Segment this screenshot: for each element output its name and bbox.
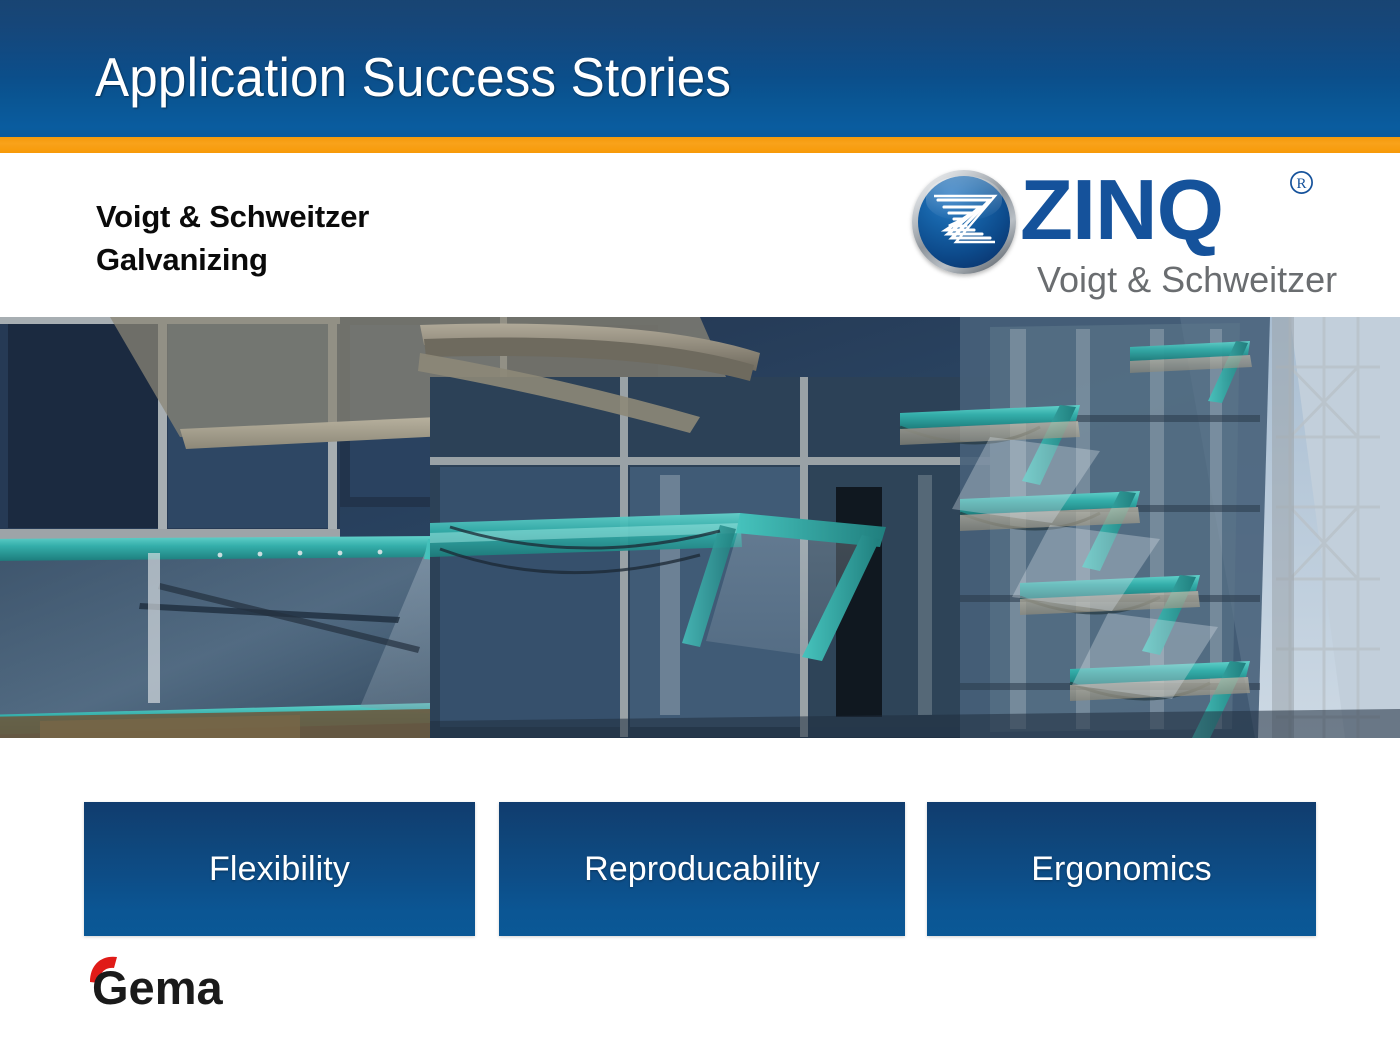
registered-trademark-icon: R [1289, 170, 1314, 195]
feature-button-label: Reproducability [584, 850, 820, 888]
zinq-tagline: Voigt & Schweitzer [1037, 260, 1337, 300]
orange-accent-divider [0, 137, 1400, 153]
zinq-brand-logo: ZINQ R Voigt & Schweitzer [912, 168, 1324, 308]
feature-button-reproducability[interactable]: Reproducability [499, 802, 905, 936]
feature-button-flexibility[interactable]: Flexibility [84, 802, 475, 936]
feature-button-ergonomics[interactable]: Ergonomics [927, 802, 1316, 936]
subtitle-line-2: Galvanizing [96, 238, 369, 281]
gema-footer-logo: Gema [84, 954, 254, 1012]
subtitle-line-1: Voigt & Schweitzer [96, 199, 369, 234]
gema-wordmark-text: Gema [92, 961, 223, 1012]
slide-header-banner: Application Success Stories [0, 0, 1400, 137]
presentation-slide: Application Success Stories Voigt & Schw… [0, 0, 1400, 1050]
feature-button-label: Flexibility [209, 850, 350, 888]
zinq-wordmark: ZINQ [1020, 168, 1223, 253]
feature-buttons-row: Flexibility Reproducability Ergonomics [0, 802, 1400, 936]
page-title: Application Success Stories [95, 46, 731, 108]
facade-photo [0, 317, 1400, 738]
slide-subtitle: Voigt & Schweitzer Galvanizing [96, 195, 369, 281]
svg-text:R: R [1296, 176, 1306, 192]
zinq-maze-z-medallion-icon [912, 170, 1016, 274]
medallion-blue-face [918, 176, 1010, 268]
feature-button-label: Ergonomics [1031, 850, 1212, 888]
